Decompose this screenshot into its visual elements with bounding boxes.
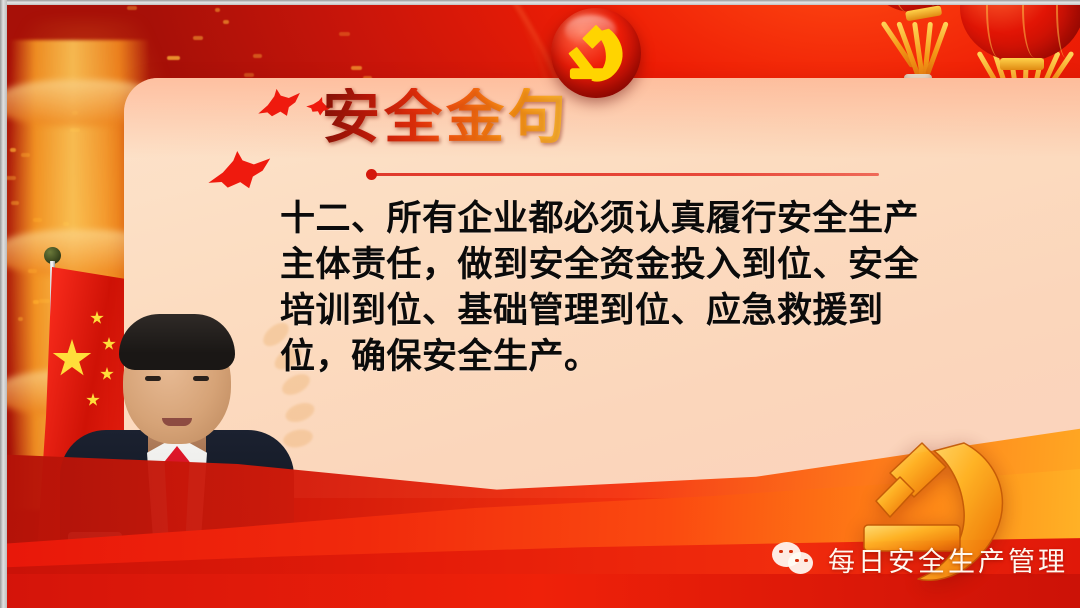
hammer-sickle-icon — [551, 8, 641, 98]
cpc-emblem-icon — [551, 8, 641, 98]
lantern-icon-1 — [960, 0, 1080, 62]
divider-dot — [366, 169, 377, 180]
watermark-account-name: 每日安全生产管理 — [828, 540, 1068, 579]
quote-body-text: 十二、所有企业都必须认真履行安全生产主体责任，做到安全资金投入到位、安全培训到位… — [280, 196, 940, 380]
watermark: 每日安全生产管理 — [772, 540, 1068, 579]
portrait-hair — [119, 314, 235, 370]
title-divider — [371, 173, 879, 176]
page-title: 安全金句 — [322, 88, 570, 146]
slide-canvas: 安全金句 安全金句 十二、所有企业都必须认真履行安全生产主体责任，做到安全资金投… — [0, 0, 1080, 608]
dove-icon-3 — [203, 146, 275, 201]
wechat-icon — [772, 542, 816, 578]
